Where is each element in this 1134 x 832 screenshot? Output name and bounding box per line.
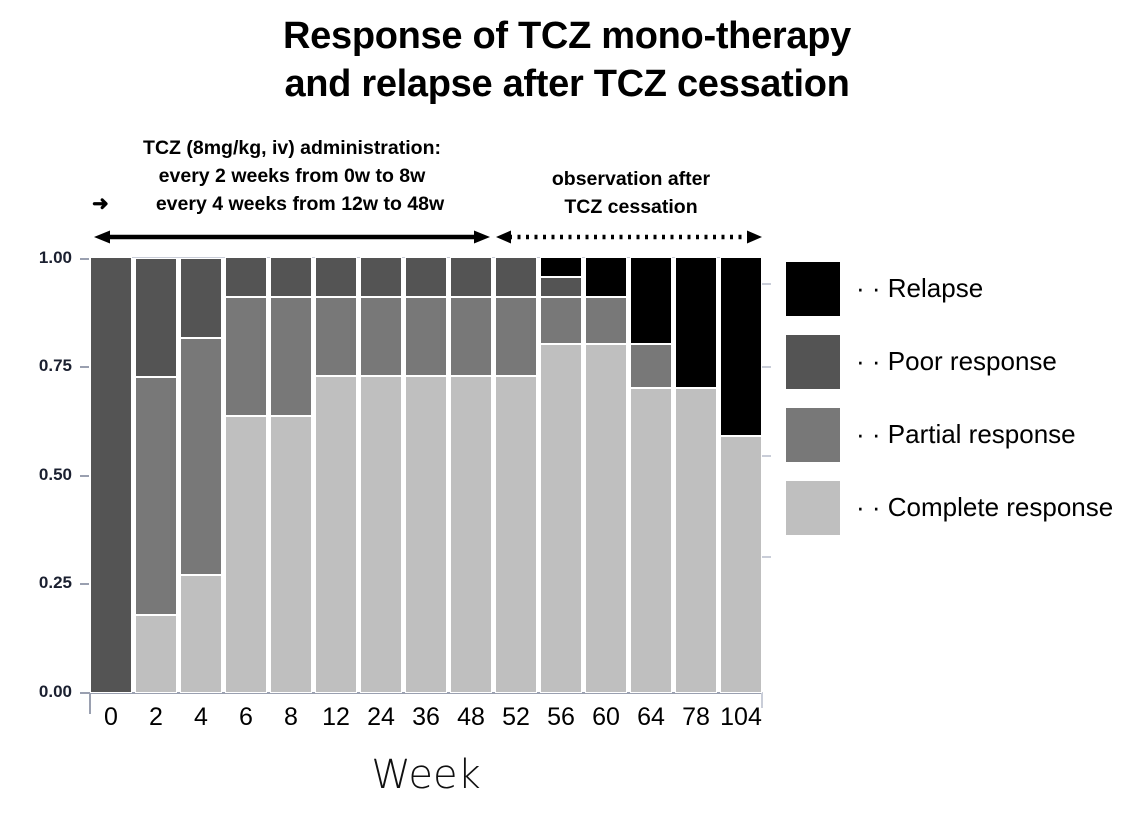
x-tick-label: 4 (180, 700, 222, 740)
bar-segment (450, 376, 492, 693)
bar-column (225, 257, 267, 693)
y-tick-mark-0.25 (80, 583, 89, 585)
bar-segment (315, 376, 357, 693)
bar-column (540, 257, 582, 693)
treatment-period-arrow-icon (94, 230, 490, 244)
bar-segment (585, 257, 627, 297)
bar-column (270, 257, 312, 693)
x-axis-title: Week (90, 752, 762, 798)
x-tick-label: 60 (585, 700, 627, 740)
bar-segment (720, 436, 762, 693)
x-tick-label: 8 (270, 700, 312, 740)
x-tick-label: 64 (630, 700, 672, 740)
y-tick-mark-1.00 (80, 258, 89, 260)
chart-page: Response of TCZ mono-therapy and relapse… (0, 0, 1134, 832)
x-tick-label: 24 (360, 700, 402, 740)
bar-column (585, 257, 627, 693)
bar-column (315, 257, 357, 693)
x-tick-label: 12 (315, 700, 357, 740)
bar-segment (180, 575, 222, 693)
title-line-1: Response of TCZ mono-therapy (283, 15, 851, 57)
annotation-observation-line-1: observation after (500, 165, 762, 193)
x-tick-label: 36 (405, 700, 447, 740)
right-tick-mark-3 (762, 455, 771, 457)
bar-segment (135, 615, 177, 693)
bar-segment (720, 257, 762, 436)
x-tick-label: 104 (720, 700, 762, 740)
annotation-treatment-line-2: every 2 weeks from 0w to 8w (92, 162, 492, 190)
bar-segment (495, 257, 537, 297)
bar-segment (585, 297, 627, 345)
y-tick-mark-0.00 (80, 692, 89, 694)
bar-column (405, 257, 447, 693)
bar-segment (135, 377, 177, 615)
bar-segment (360, 257, 402, 297)
x-tick-label: 6 (225, 700, 267, 740)
bar-segment (225, 416, 267, 693)
bar-segment (540, 344, 582, 693)
right-arrow-icon: ➜ (92, 191, 109, 218)
legend-swatch-poor-response (786, 335, 840, 389)
bar-segment (90, 257, 132, 693)
y-tick-mark-0.50 (80, 475, 89, 477)
page-title: Response of TCZ mono-therapy and relapse… (0, 12, 1134, 108)
x-tick-label: 56 (540, 700, 582, 740)
legend-label-poor-response: · · Poor response (856, 346, 1057, 377)
bar-segment (135, 258, 177, 377)
bar-segment (270, 257, 312, 297)
bar-segment (225, 257, 267, 297)
period-arrows (0, 226, 1134, 248)
legend-label-partial-response: · · Partial response (856, 419, 1076, 450)
bar-segment (540, 297, 582, 345)
bar-column (450, 257, 492, 693)
legend-swatch-complete-response (786, 481, 840, 535)
bar-segment (630, 388, 672, 693)
bar-segment (450, 257, 492, 297)
annotation-observation: observation after TCZ cessation (500, 165, 762, 221)
annotation-observation-line-2: TCZ cessation (500, 193, 762, 221)
chart-legend: · · Relapse · · Poor response · · Partia… (786, 252, 1126, 544)
bar-segment (585, 344, 627, 693)
observation-period-arrow-icon (496, 230, 762, 244)
bar-segment (180, 258, 222, 337)
bar-segment (540, 277, 582, 297)
right-tick-mark-1 (762, 283, 771, 285)
bar-column (720, 257, 762, 693)
y-tick-label-0.00: 0.00 (0, 682, 72, 702)
legend-item-partial-response: · · Partial response (786, 398, 1126, 471)
bar-column (180, 257, 222, 693)
bar-segment (270, 297, 312, 416)
legend-label-complete-response: · · Complete response (856, 492, 1113, 523)
bar-segment (495, 297, 537, 376)
bar-segment (675, 257, 717, 388)
stacked-bar-series (90, 257, 762, 693)
bar-column (495, 257, 537, 693)
y-tick-mark-0.75 (80, 366, 89, 368)
bar-segment (270, 416, 312, 693)
legend-item-relapse: · · Relapse (786, 252, 1126, 325)
y-tick-label-0.75: 0.75 (0, 356, 72, 376)
legend-item-complete-response: · · Complete response (786, 471, 1126, 544)
bar-segment (450, 297, 492, 376)
annotation-treatment-line-1: TCZ (8mg/kg, iv) administration: (92, 134, 492, 162)
legend-label-relapse: · · Relapse (856, 273, 983, 304)
x-tick-label: 0 (90, 700, 132, 740)
bar-segment (675, 388, 717, 693)
bar-segment (630, 344, 672, 388)
bar-column (90, 257, 132, 693)
legend-item-poor-response: · · Poor response (786, 325, 1126, 398)
bar-segment (360, 376, 402, 693)
bar-segment (225, 297, 267, 416)
bar-segment (540, 257, 582, 277)
right-tick-mark-2 (762, 366, 771, 368)
x-axis-tick-labels: 02468122436485256606478104 (90, 700, 762, 740)
title-line-2: and relapse after TCZ cessation (0, 60, 1134, 108)
bar-column (360, 257, 402, 693)
bar-column (630, 257, 672, 693)
y-tick-label-0.50: 0.50 (0, 465, 72, 485)
bar-segment (405, 297, 447, 376)
bar-segment (360, 297, 402, 376)
y-tick-label-1.00: 1.00 (0, 248, 72, 268)
right-tick-mark-4 (762, 556, 771, 558)
bar-column (675, 257, 717, 693)
legend-swatch-partial-response (786, 408, 840, 462)
x-tick-label: 48 (450, 700, 492, 740)
legend-swatch-relapse (786, 262, 840, 316)
bar-segment (405, 257, 447, 297)
annotation-treatment-line-3: every 4 weeks from 12w to 48w (156, 193, 444, 215)
annotation-treatment: TCZ (8mg/kg, iv) administration: every 2… (92, 134, 492, 218)
y-tick-label-0.25: 0.25 (0, 573, 72, 593)
bar-column (135, 257, 177, 693)
bar-segment (405, 376, 447, 693)
bar-segment (180, 338, 222, 576)
bar-segment (315, 257, 357, 297)
bar-segment (315, 297, 357, 376)
x-tick-label: 2 (135, 700, 177, 740)
x-tick-label: 52 (495, 700, 537, 740)
bar-segment (495, 376, 537, 693)
x-tick-label: 78 (675, 700, 717, 740)
bar-segment (630, 257, 672, 344)
